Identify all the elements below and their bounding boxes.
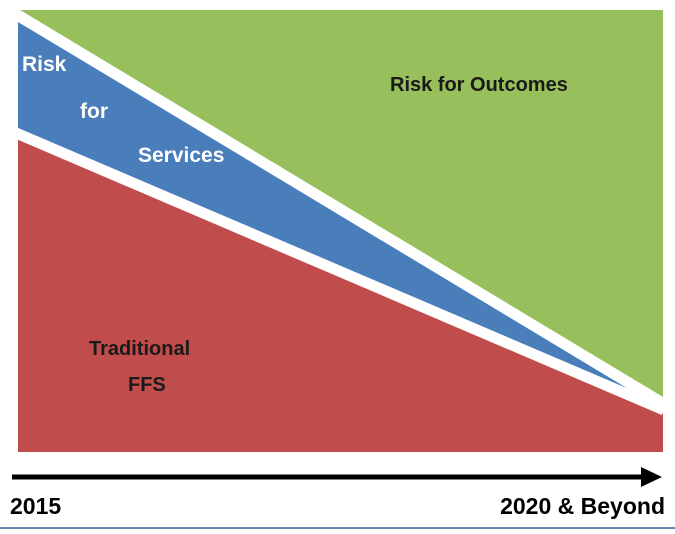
chart-canvas: Risk for Services Risk for Outcomes Trad… [0,0,675,534]
axis-label-start: 2015 [10,493,61,520]
risk-continuum-area-chart [0,0,675,534]
axis-label-end: 2020 & Beyond [500,493,665,520]
timeline-arrow-head [641,467,662,487]
timeline-arrow [12,467,662,487]
